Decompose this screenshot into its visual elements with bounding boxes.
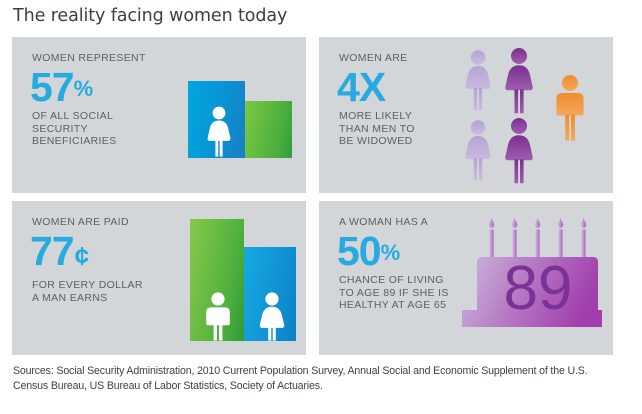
- sources-note: Sources: Social Security Administration,…: [13, 364, 623, 393]
- stat-subtext: FOR EVERY DOLLAR A MAN EARNS: [32, 279, 182, 304]
- cake-candles: [489, 217, 586, 258]
- stat-unit: ¢: [75, 241, 88, 271]
- female-figure-icon: [204, 105, 234, 157]
- cake-age-number: 89: [504, 254, 573, 323]
- page-title: The reality facing women today: [13, 6, 287, 26]
- male-figure-icon: [202, 291, 234, 341]
- stat-unit: %: [74, 76, 94, 101]
- female-figure-dark-2: [505, 118, 532, 183]
- panel-women-represent: WOMEN REPRESENT 57% OF ALL SOCIAL SECURI…: [12, 37, 306, 193]
- female-figure-light-2: [465, 120, 490, 180]
- stat-block-women-represent: WOMEN REPRESENT 57% OF ALL SOCIAL SECURI…: [32, 52, 182, 148]
- stat-value: 50: [337, 228, 381, 274]
- panel-widowed: WOMEN ARE 4X MORE LIKELY THAN MEN TO BE …: [319, 37, 613, 193]
- female-figure-light-1: [465, 50, 490, 110]
- bar-chart-pay-gap: [190, 219, 300, 341]
- stat-number: 57%: [30, 66, 182, 108]
- stat-number: 77¢: [30, 230, 182, 277]
- female-figure-dark-1: [505, 48, 532, 113]
- stat-unit: %: [381, 240, 401, 265]
- panel-longevity: A WOMAN HAS A 50% CHANCE OF LIVING TO AG…: [319, 201, 613, 355]
- stat-value: 57: [30, 64, 74, 110]
- female-figure-icon: [256, 291, 288, 341]
- birthday-cake-graphic: 89: [462, 217, 602, 350]
- stat-value: 77: [30, 228, 74, 274]
- bar-chart-beneficiaries: [188, 81, 293, 158]
- infographic-page: The reality facing women today WOMEN REP…: [0, 0, 642, 414]
- male-figure-orange: [556, 75, 583, 141]
- stat-block-pay-gap: WOMEN ARE PAID 77¢ FOR EVERY DOLLAR A MA…: [32, 216, 182, 304]
- bar-other-green: [245, 101, 292, 158]
- panel-pay-gap: WOMEN ARE PAID 77¢ FOR EVERY DOLLAR A MA…: [12, 201, 306, 355]
- stat-unit: X: [359, 64, 385, 110]
- people-group-widowed: [459, 47, 609, 185]
- panel-grid: WOMEN REPRESENT 57% OF ALL SOCIAL SECURI…: [12, 37, 613, 355]
- stat-value: 4: [337, 64, 359, 110]
- stat-subtext: OF ALL SOCIAL SECURITY BENEFICIARIES: [32, 110, 182, 148]
